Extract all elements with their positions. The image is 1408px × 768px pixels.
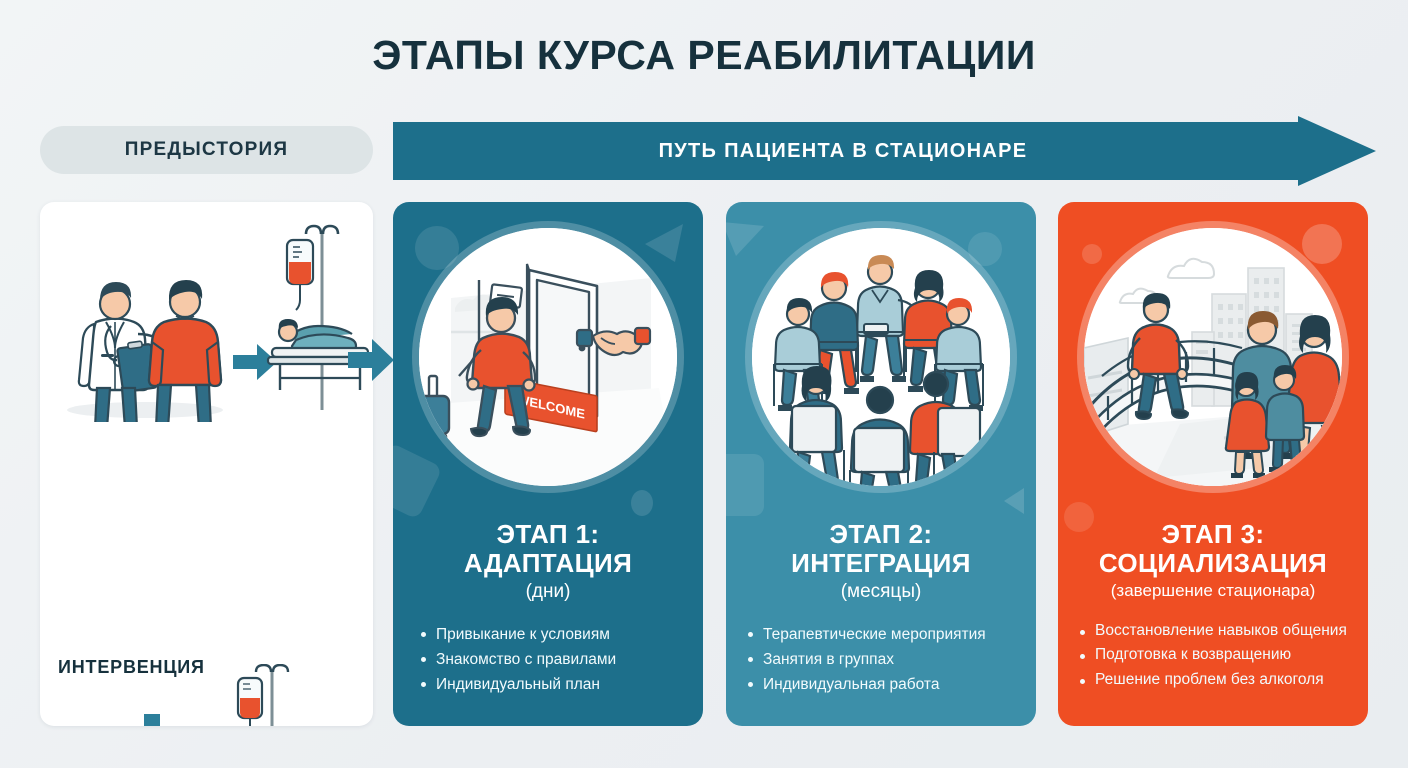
list-item: Восстановление навыков общения xyxy=(1078,620,1356,642)
stage3-bullet-list: Восстановление навыков общения Подготовк… xyxy=(1078,620,1356,693)
deco-triangle xyxy=(726,220,768,264)
header-prehistory-label: ПРЕДЫСТОРИЯ xyxy=(125,139,288,161)
stage3-heading: ЭТАП 3: СОЦИАЛИЗАЦИЯ (завершение стацион… xyxy=(1058,520,1368,604)
page-title: ЭТАПЫ КУРСА РЕАБИЛИТАЦИИ xyxy=(0,32,1408,79)
intervention-label: ИНТЕРВЕНЦИЯ xyxy=(58,657,205,678)
stage3-heading-line1: ЭТАП 3: xyxy=(1058,520,1368,549)
deco-circle xyxy=(1302,224,1342,264)
list-item: Терапевтические мероприятия xyxy=(746,622,1024,647)
header-journey-arrow: ПУТЬ ПАЦИЕНТА В СТАЦИОНАРЕ xyxy=(393,116,1376,186)
stage2-bullet-list: Терапевтические мероприятия Занятия в гр… xyxy=(746,622,1024,697)
iv-drip-bed-illustration xyxy=(266,220,373,420)
list-item: Подготовка к возвращению xyxy=(1078,644,1356,666)
stage2-subtitle: (месяцы) xyxy=(726,578,1036,607)
detox-illustration xyxy=(210,664,373,726)
deco-circle xyxy=(415,226,459,270)
stage1-heading-line1: ЭТАП 1: xyxy=(393,520,703,549)
header-journey-label: ПУТЬ ПАЦИЕНТА В СТАЦИОНАРЕ xyxy=(393,116,1293,186)
deco-square xyxy=(726,454,764,516)
connector-arrow-to-stage1-icon xyxy=(348,336,394,384)
deco-triangle xyxy=(1000,486,1026,516)
list-item: Индивидуальный план xyxy=(419,672,691,697)
stage3-illustration xyxy=(1084,228,1342,486)
stage-card-3[interactable]: ЭТАП 3: СОЦИАЛИЗАЦИЯ (завершение стацион… xyxy=(1058,202,1368,726)
list-item: Индивидуальная работа xyxy=(746,672,1024,697)
deco-dot xyxy=(631,490,653,516)
stage2-illustration xyxy=(752,228,1010,486)
stage1-heading: ЭТАП 1: АДАПТАЦИЯ (дни) xyxy=(393,520,703,607)
stage2-heading-line2: ИНТЕГРАЦИЯ xyxy=(726,549,1036,578)
stage1-illustration: WELCOME xyxy=(419,228,677,486)
stage3-heading-line2: СОЦИАЛИЗАЦИЯ xyxy=(1058,549,1368,578)
intervention-illustration xyxy=(50,242,250,422)
stage3-subtitle: (завершение стационара) xyxy=(1058,578,1368,604)
deco-circle xyxy=(968,232,1002,266)
deco-square xyxy=(393,442,443,520)
stage2-heading-line1: ЭТАП 2: xyxy=(726,520,1036,549)
list-item: Решение проблем без алкоголя xyxy=(1078,669,1356,691)
stage-card-2[interactable]: ЭТАП 2: ИНТЕГРАЦИЯ (месяцы) Терапевтичес… xyxy=(726,202,1036,726)
stage1-bullet-list: Привыкание к условиям Знакомство с прави… xyxy=(419,622,691,697)
list-item: Занятия в группах xyxy=(746,647,1024,672)
stage1-subtitle: (дни) xyxy=(393,578,703,607)
infographic-root: ЭТАПЫ КУРСА РЕАБИЛИТАЦИИ ПРЕДЫСТОРИЯ ПУТ… xyxy=(0,0,1408,768)
header-prehistory-pill: ПРЕДЫСТОРИЯ xyxy=(40,126,373,174)
stage-card-1[interactable]: WELCOME xyxy=(393,202,703,726)
list-item: Привыкание к условиям xyxy=(419,622,691,647)
stage2-heading: ЭТАП 2: ИНТЕГРАЦИЯ (месяцы) xyxy=(726,520,1036,607)
deco-circle xyxy=(1082,244,1102,264)
prehistory-arrow-down-icon xyxy=(140,714,220,726)
stage1-heading-line2: АДАПТАЦИЯ xyxy=(393,549,703,578)
list-item: Знакомство с правилами xyxy=(419,647,691,672)
prehistory-panel: ИНТЕРВЕНЦИЯ ДЕТОКСИКАЦИЯ xyxy=(40,202,373,726)
deco-triangle xyxy=(631,222,685,266)
prehistory-arrow-1-icon xyxy=(233,342,277,382)
